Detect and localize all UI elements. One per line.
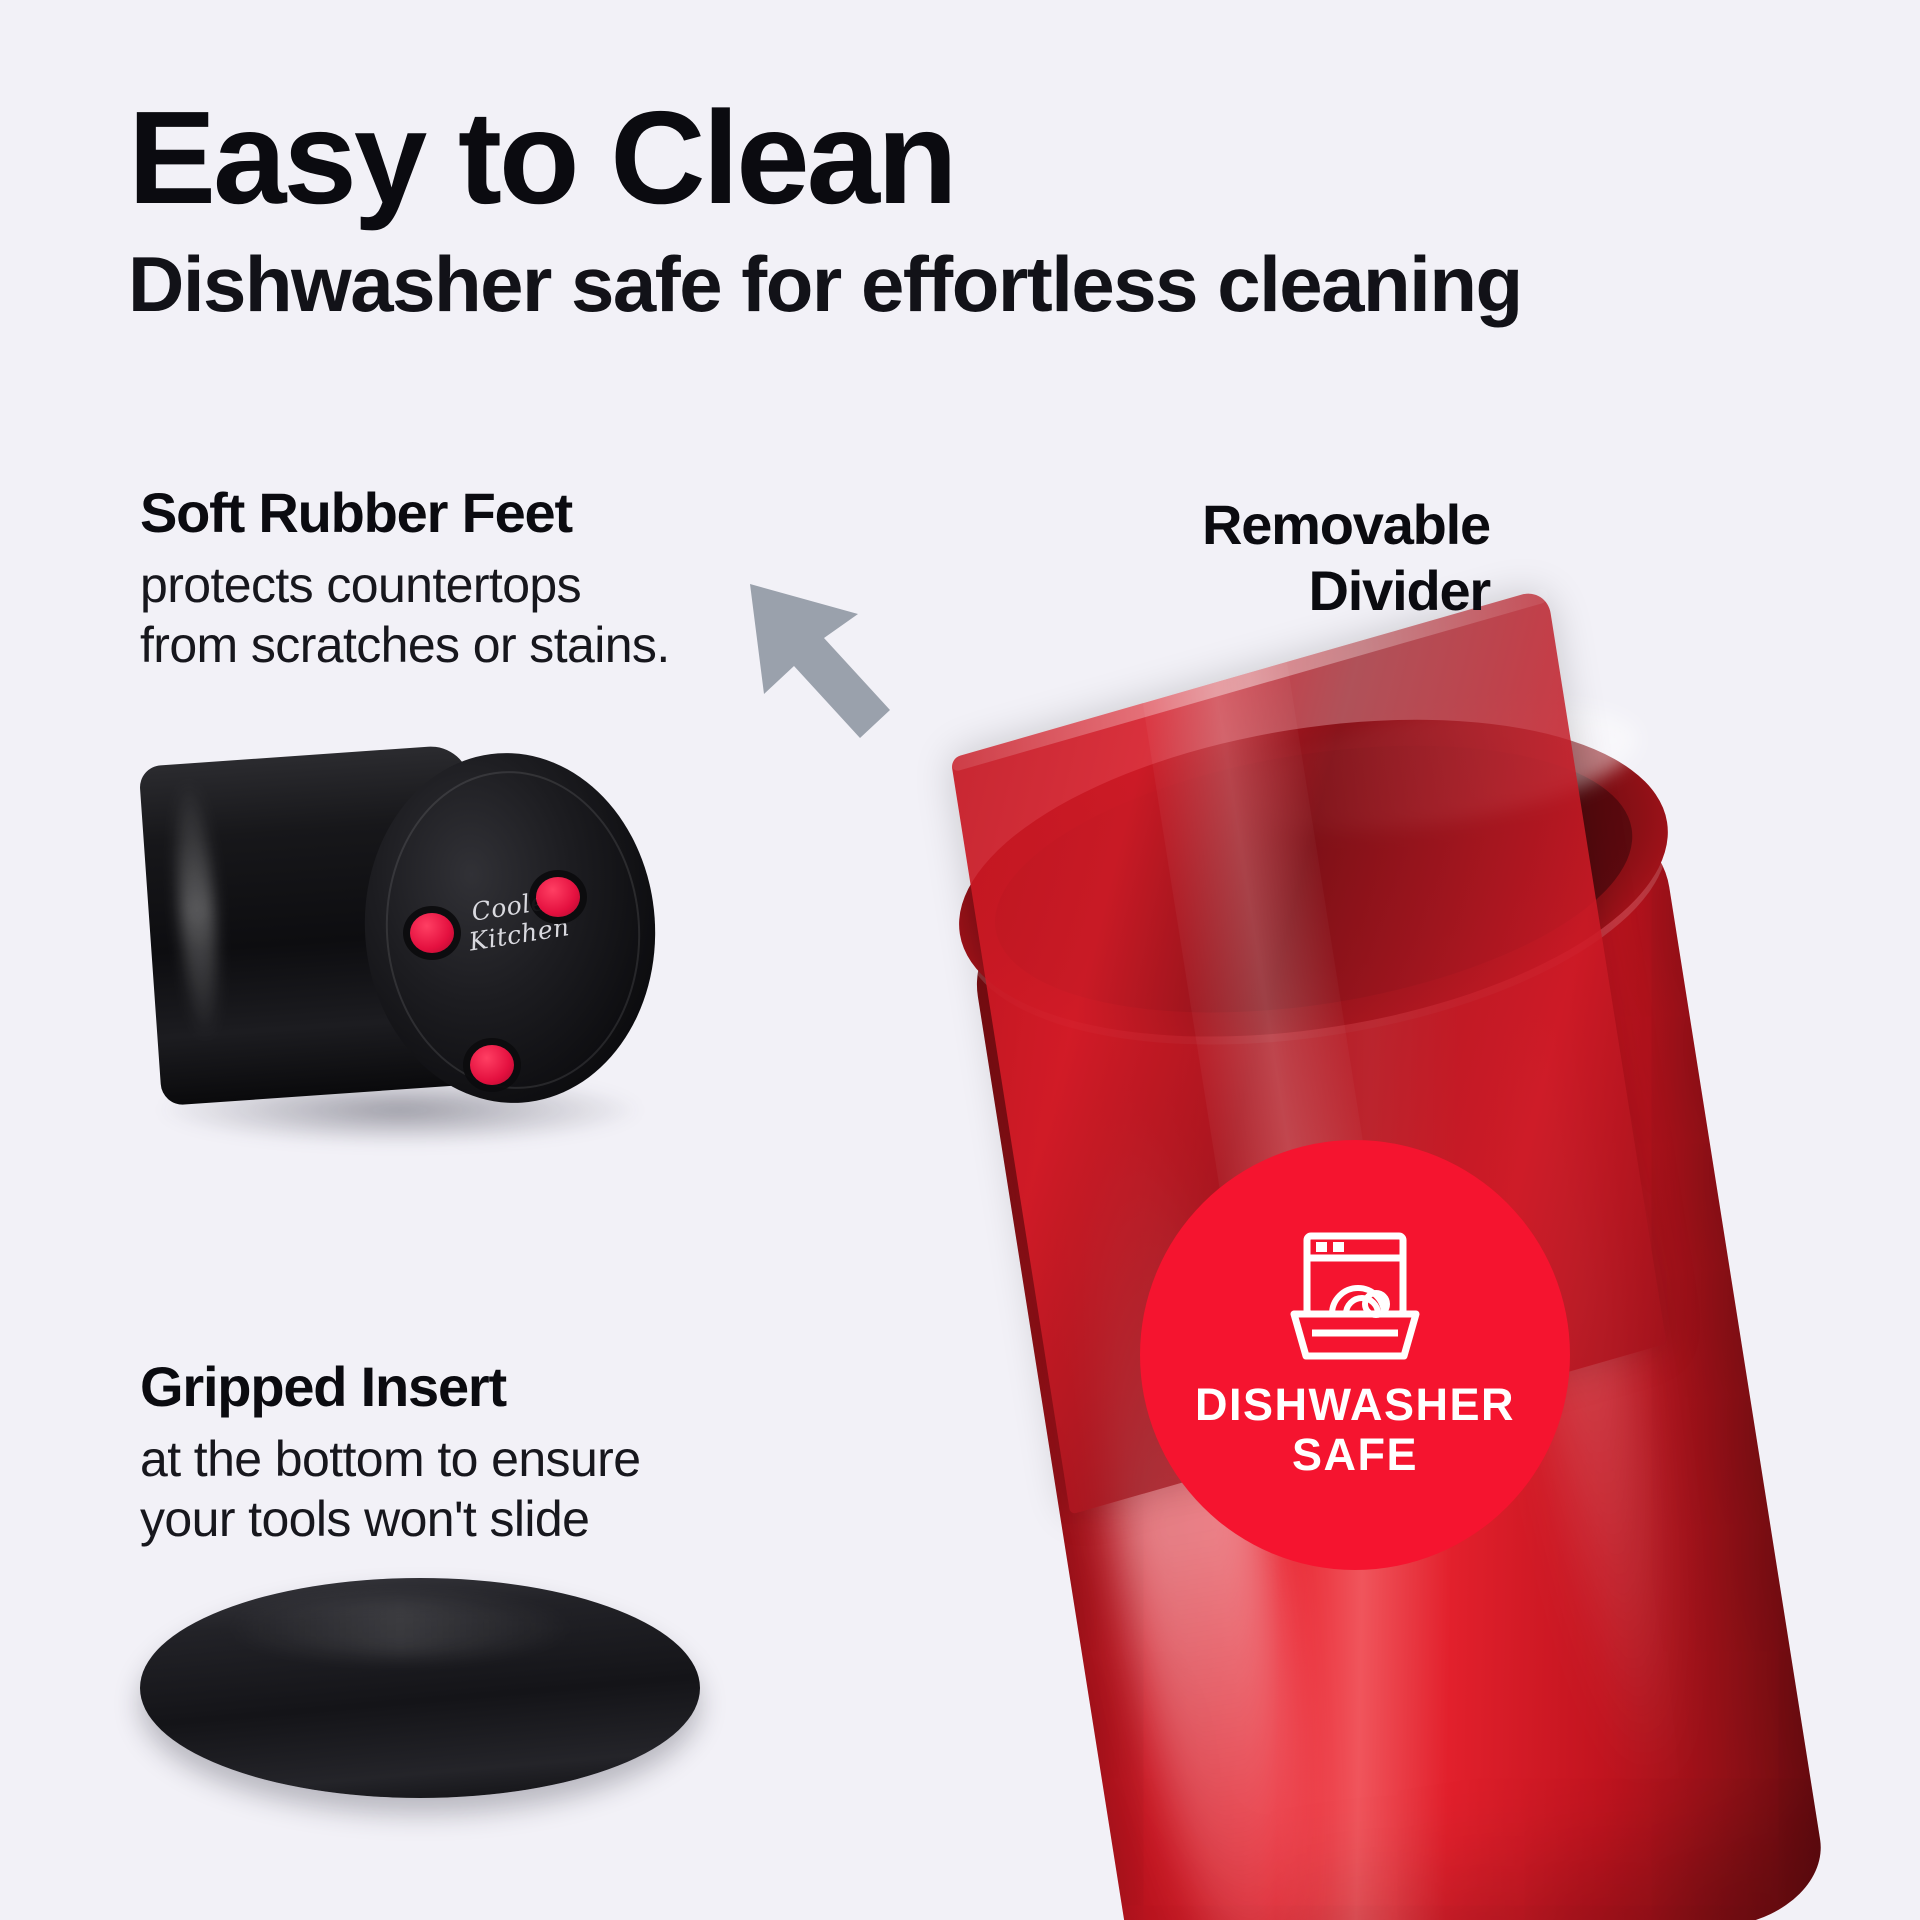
- feature-title-gripped-insert: Gripped Insert: [140, 1356, 900, 1419]
- badge-label: DISHWASHER SAFE: [1195, 1380, 1515, 1481]
- headline-block: Easy to Clean Dishwasher safe for effort…: [128, 92, 1828, 326]
- rubber-foot: [410, 913, 454, 953]
- feature-removable-divider: Removable Divider: [930, 492, 1490, 624]
- feature-title-line2: Divider: [1309, 559, 1490, 622]
- insert-disc-highlight: [220, 1600, 580, 1656]
- feature-title-removable-divider: Removable Divider: [930, 492, 1490, 624]
- page-subtitle: Dishwasher safe for effortless cleaning: [128, 242, 1828, 326]
- gripped-insert-product-photo: [140, 1578, 720, 1838]
- feature-body-soft-rubber-feet: protects countertops from scratches or s…: [140, 555, 860, 675]
- badge-label-line2: SAFE: [1195, 1430, 1515, 1480]
- feature-title-line1: Removable: [1202, 493, 1490, 556]
- feature-title-soft-rubber-feet: Soft Rubber Feet: [140, 482, 860, 545]
- rubber-foot: [536, 877, 580, 917]
- dishwasher-safe-badge: DISHWASHER SAFE: [1140, 1140, 1570, 1570]
- feature-body-line1: at the bottom to ensure: [140, 1429, 900, 1489]
- feature-soft-rubber-feet: Soft Rubber Feet protects countertops fr…: [140, 482, 860, 675]
- feature-body-line2: from scratches or stains.: [140, 615, 860, 675]
- infographic-canvas: Easy to Clean Dishwasher safe for effort…: [0, 0, 1920, 1920]
- rubber-foot: [470, 1045, 514, 1085]
- dishwasher-icon: [1280, 1230, 1430, 1362]
- product-photo-stage: DISHWASHER SAFE: [760, 560, 1920, 1920]
- feature-body-line2: your tools won't slide: [140, 1489, 900, 1549]
- badge-label-line1: DISHWASHER: [1195, 1380, 1515, 1430]
- page-title: Easy to Clean: [128, 92, 1828, 224]
- feature-body-gripped-insert: at the bottom to ensure your tools won't…: [140, 1429, 900, 1549]
- feature-gripped-insert: Gripped Insert at the bottom to ensure y…: [140, 1356, 900, 1549]
- feature-body-line1: protects countertops: [140, 555, 860, 615]
- rubber-feet-product-photo: Cooler Kitchen: [140, 745, 700, 1165]
